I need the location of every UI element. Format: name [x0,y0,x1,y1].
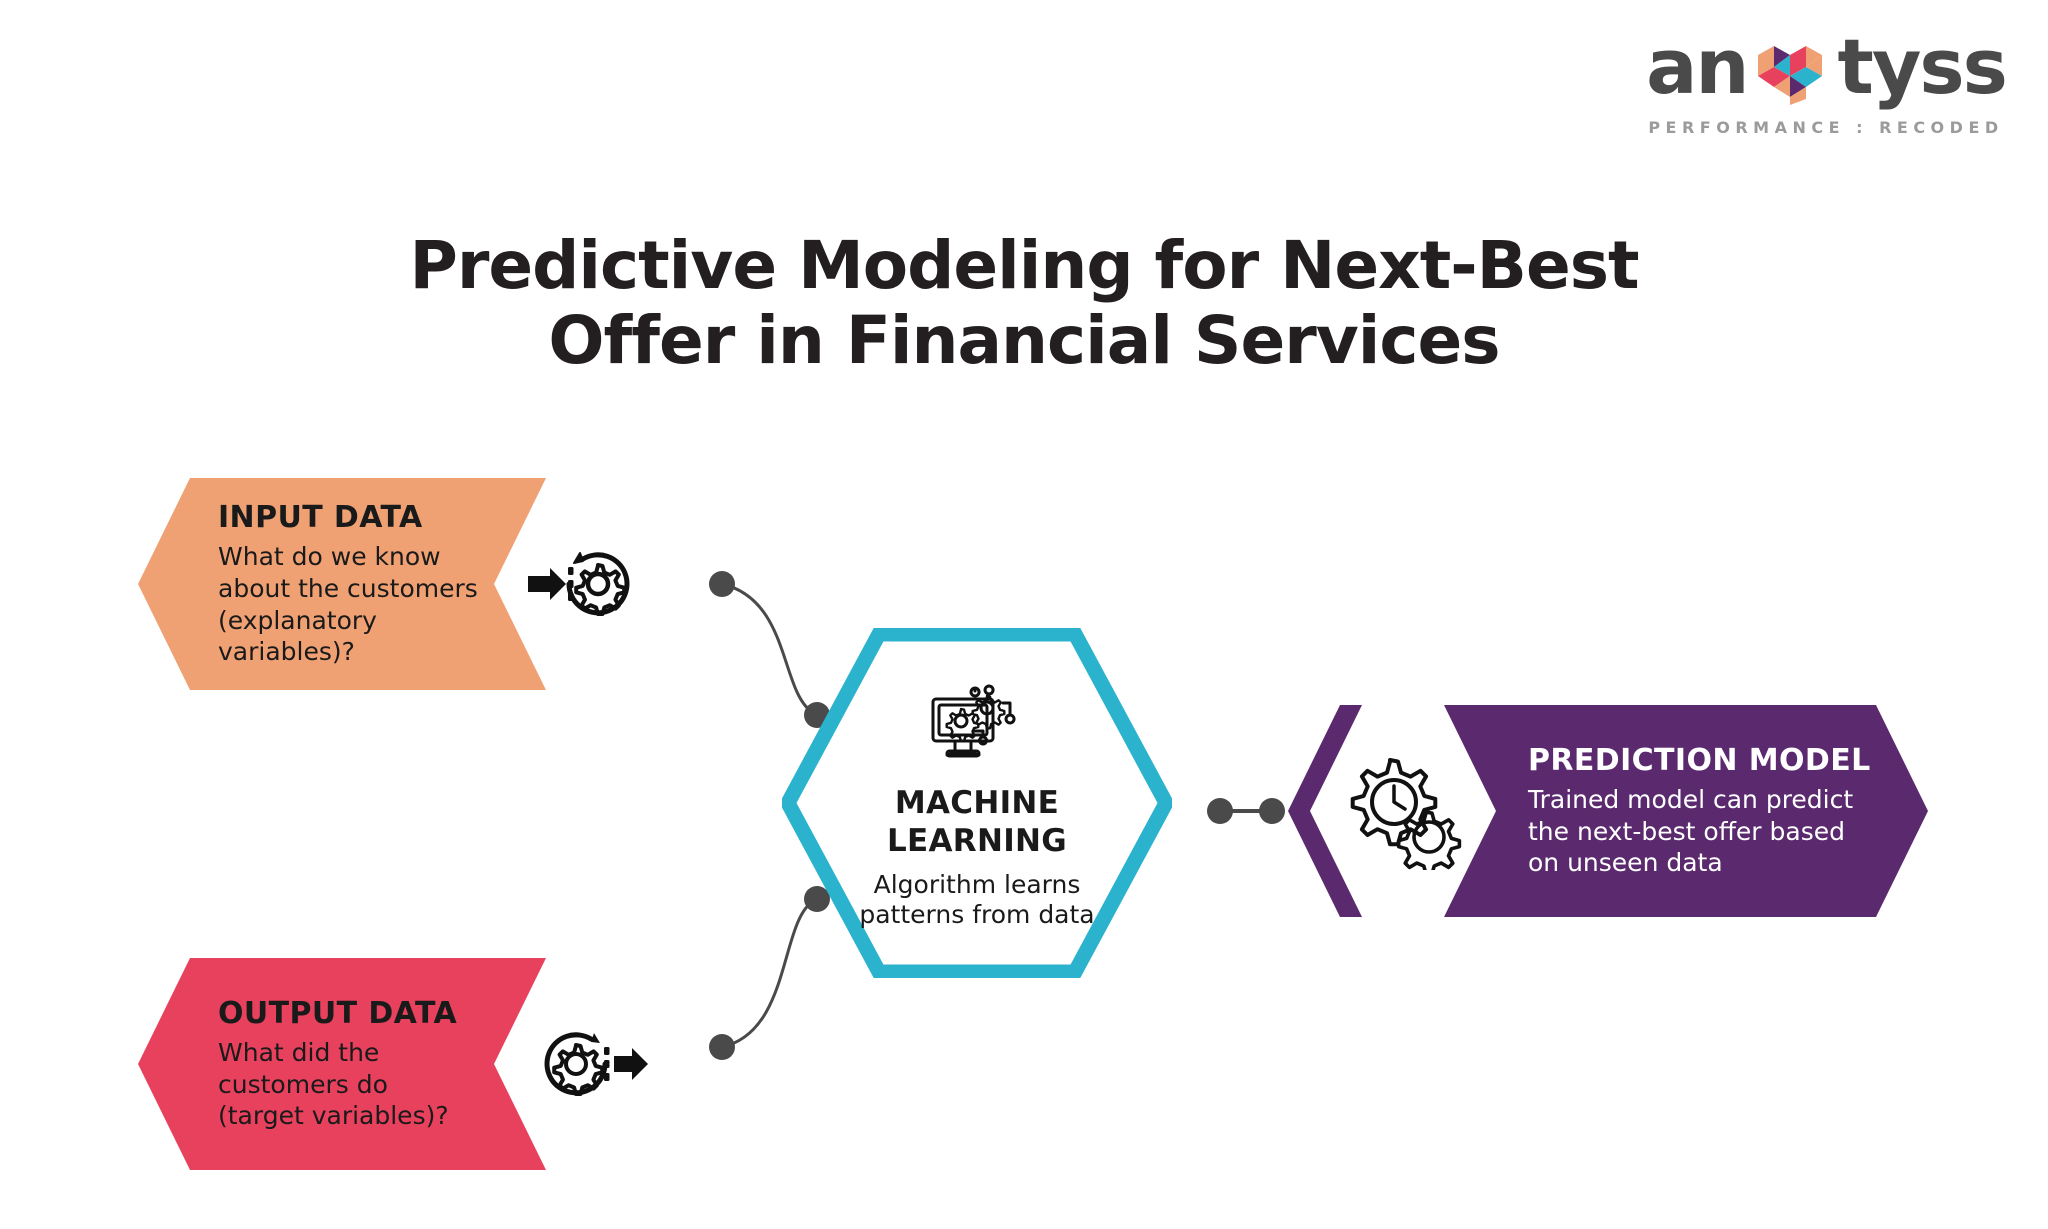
prediction-model-icon-hexagon [1310,705,1496,917]
prediction-model-body: Trained model can predict the next-best … [1528,784,1898,879]
prediction-model-text: PREDICTION MODEL Trained model can predi… [1528,743,1898,879]
connector-input-dot-start [709,571,735,597]
machine-learning-subtitle: Algorithm learns patterns from data [859,870,1094,931]
connector-output-dot-start [709,1034,735,1060]
monitor-gears-icon [925,681,1029,767]
input-data-icon-hexagon [494,478,680,690]
arrow-into-gear-cycle-icon [524,536,650,632]
input-data-body: What do we know about the customers (exp… [218,541,518,668]
prediction-model-title: PREDICTION MODEL [1528,743,1898,778]
diagram-stage: INPUT DATA What do we know about the cus… [0,0,2048,1229]
ml-hexagon-content: MACHINE LEARNING Algorithm learns patter… [782,628,1172,978]
machine-learning-title: MACHINE LEARNING [887,785,1067,859]
connector-prediction-dot-start [1207,798,1233,824]
connector-prediction-dot-end [1259,798,1285,824]
gear-cycle-to-arrow-icon [524,1016,650,1112]
dual-gears-clock-icon [1344,752,1462,870]
input-data-text: INPUT DATA What do we know about the cus… [218,500,518,668]
output-data-title: OUTPUT DATA [218,996,518,1031]
output-data-body: What did the customers do (target variab… [218,1037,518,1132]
input-data-title: INPUT DATA [218,500,518,535]
output-data-text: OUTPUT DATA What did the customers do (t… [218,996,518,1132]
output-data-icon-hexagon [494,958,680,1170]
machine-learning-block[interactable]: MACHINE LEARNING Algorithm learns patter… [782,628,1172,978]
